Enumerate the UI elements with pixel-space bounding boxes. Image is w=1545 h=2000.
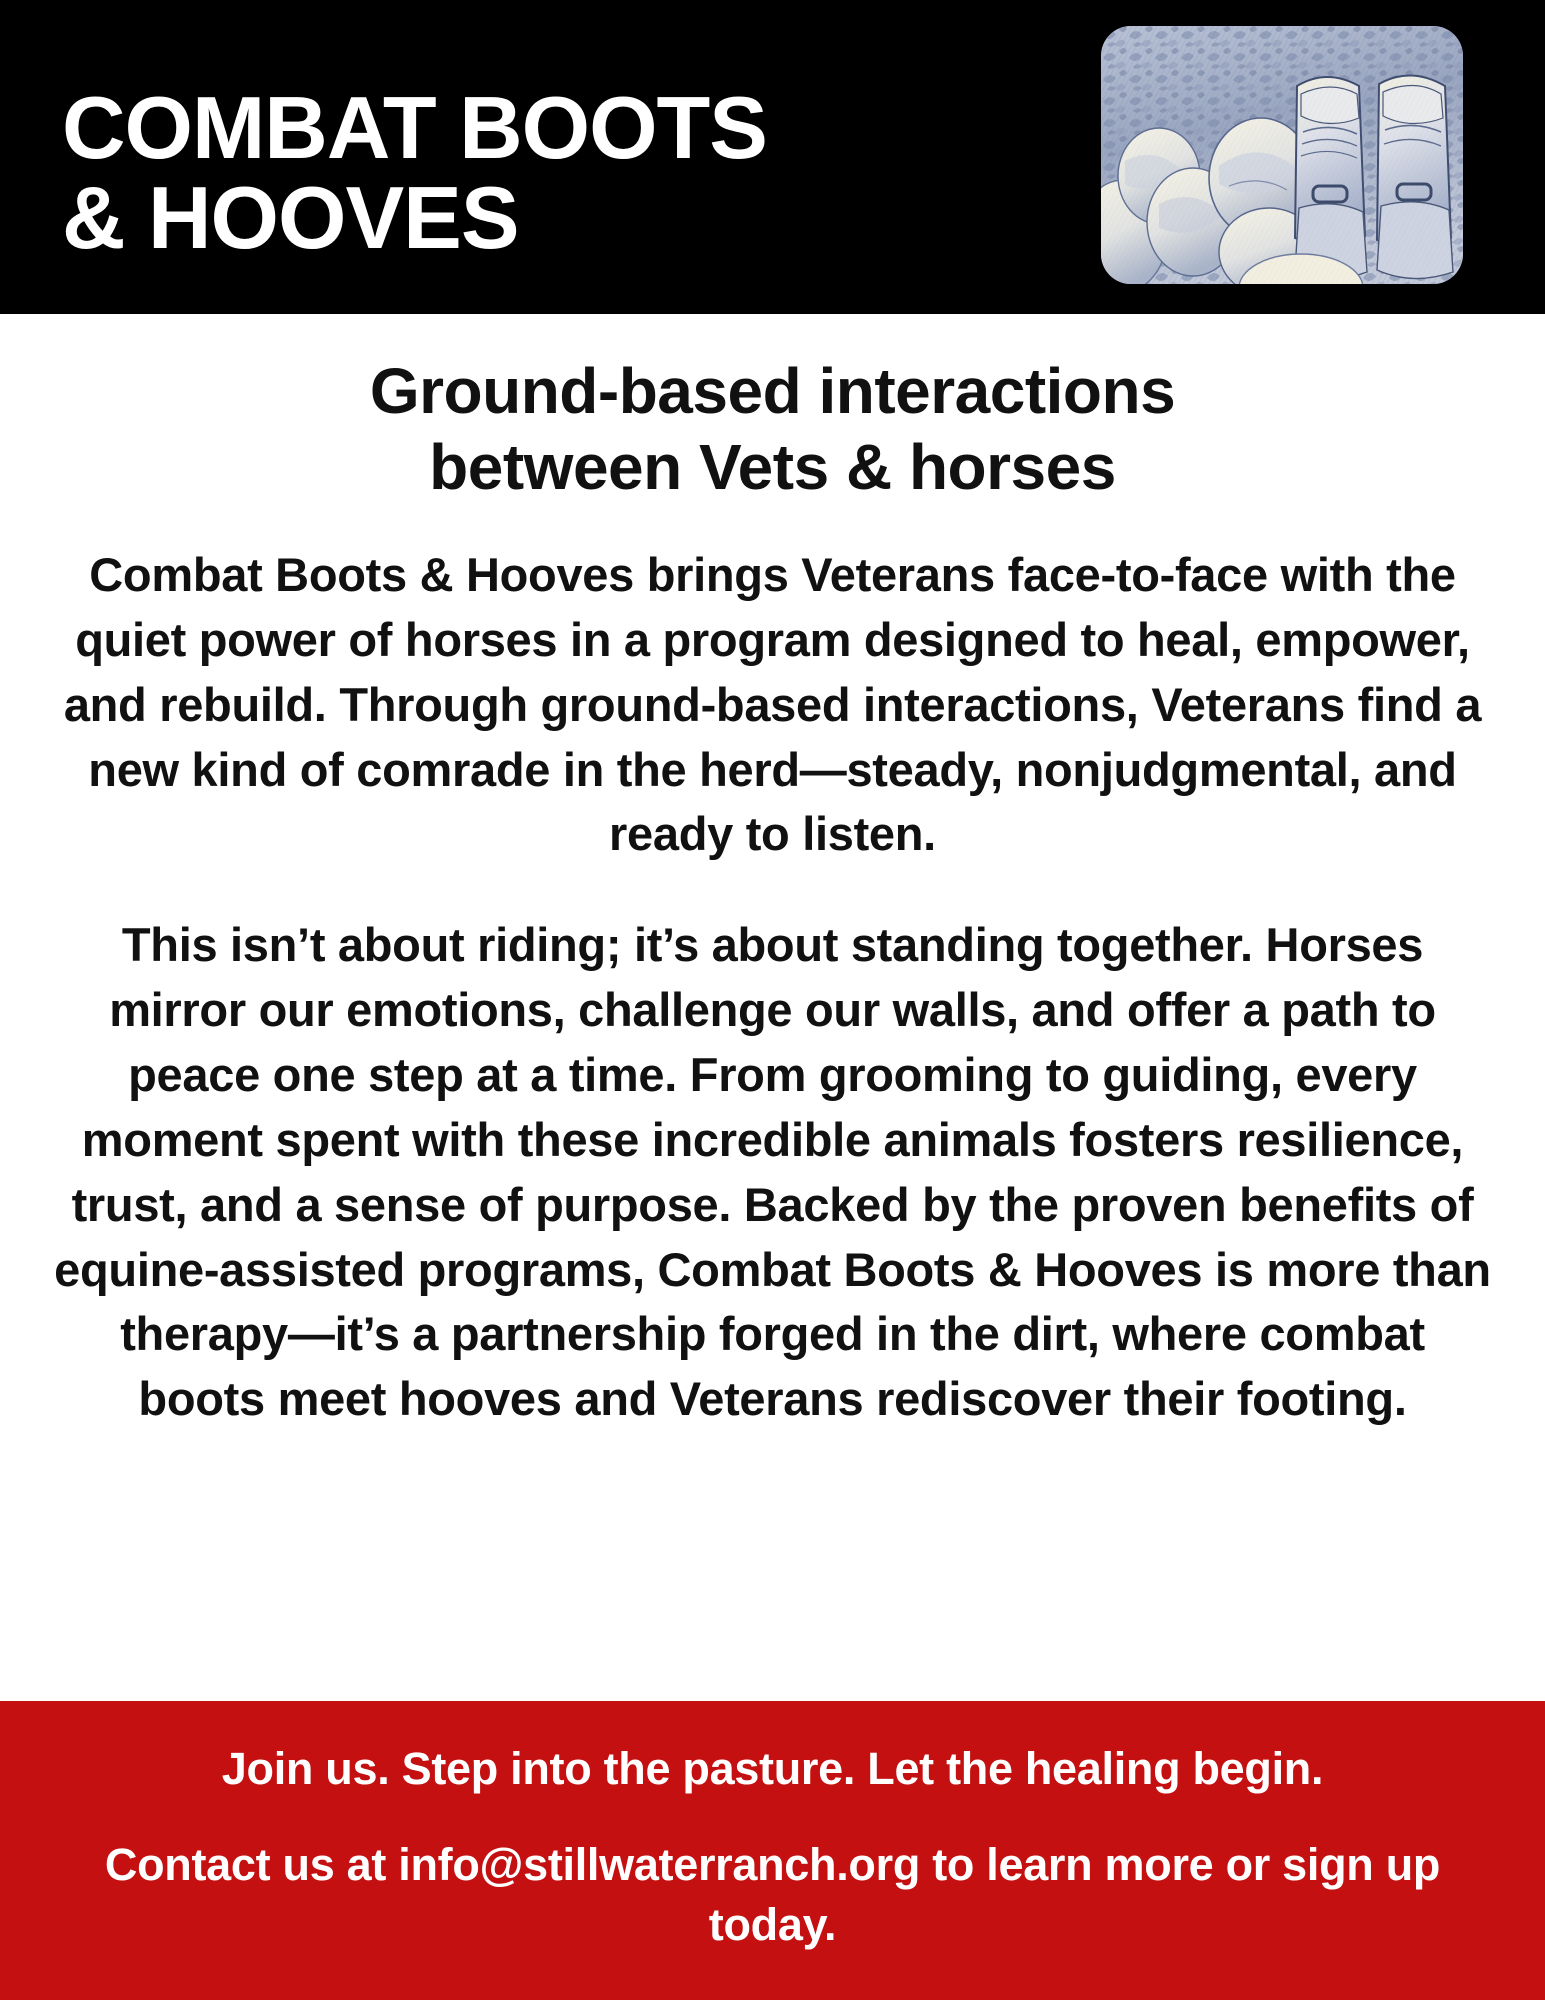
footer-band: Join us. Step into the pasture. Let the … [0,1701,1545,2000]
body-copy: Combat Boots & Hooves brings Veterans fa… [0,543,1545,1432]
boots-photo-illustration [1101,26,1463,284]
main-content: Ground-based interactions between Vets &… [0,314,1545,1701]
body-paragraph-2: This isn’t about riding; it’s about stan… [52,913,1493,1432]
boots-and-hooves-photo [1101,26,1463,284]
header-band: COMBAT BOOTS & HOOVES [0,0,1545,314]
call-to-action-text: Join us. Step into the pasture. Let the … [0,1701,1545,1799]
page-title: COMBAT BOOTS & HOOVES [62,83,862,263]
body-paragraph-1: Combat Boots & Hooves brings Veterans fa… [52,543,1493,867]
subtitle: Ground-based interactions between Vets &… [0,314,1545,505]
contact-text: Contact us at info@stillwaterranch.org t… [0,1799,1545,1955]
